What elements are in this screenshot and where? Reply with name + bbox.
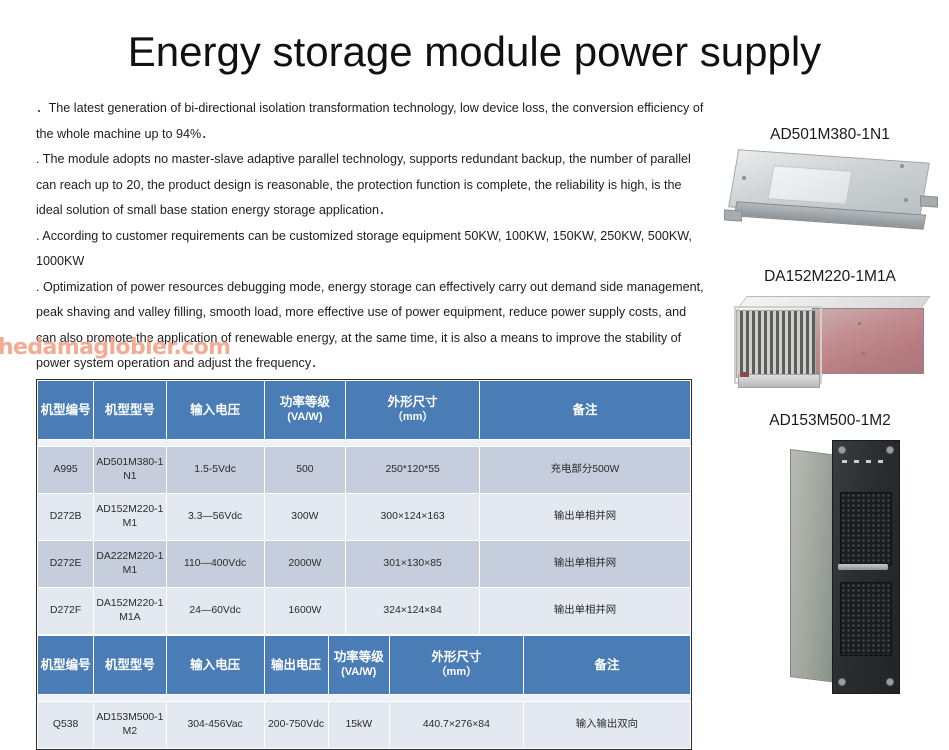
module-screw (858, 322, 861, 325)
cell-model-no: A995 (38, 447, 94, 494)
spec-tables: 机型编号 机型型号 输入电压 功率等级(VA/W) 外形尺寸（mm） 备注 A9… (36, 379, 692, 750)
column-header-remarks: 备注 (480, 381, 691, 440)
column-header-model-no: 机型编号 (38, 381, 94, 440)
page-title: Energy storage module power supply (0, 28, 949, 76)
module-screw (862, 352, 865, 355)
table-header-row: 机型编号 机型型号 输入电压 功率等级(VA/W) 外形尺寸（mm） 备注 (38, 381, 691, 440)
fan-grille-top (840, 492, 892, 566)
module-latch-tab (740, 372, 749, 377)
cell-power-rating: 1600W (264, 588, 346, 635)
chassis-screw (900, 164, 904, 168)
chassis-mount-ear-right (920, 195, 938, 207)
cell-input-voltage: 110—400Vdc (166, 541, 264, 588)
cell-input-voltage: 24—60Vdc (166, 588, 264, 635)
module-bottom-panel (738, 374, 820, 388)
cell-remarks: 输出单相并网 (480, 541, 691, 588)
spec-table-two: 机型编号 机型型号 输入电压 输出电压 功率等级(VA/W) 外形尺寸（mm） … (37, 635, 691, 749)
cell-model-type: DA222M220-1M1 (94, 541, 166, 588)
cell-remarks: 输出单相并网 (480, 588, 691, 635)
body-copy: ．The latest generation of bi-directional… (36, 96, 704, 377)
paragraph-4: . Optimization of power resources debugg… (36, 275, 704, 377)
table-row: D272F DA152M220-1M1A 24—60Vdc 1600W 324×… (38, 588, 691, 635)
table-row: D272E DA222M220-1M1 110—400Vdc 2000W 301… (38, 541, 691, 588)
column-header-dimensions: 外形尺寸（mm） (389, 636, 523, 695)
cell-dimensions: 300×124×163 (346, 494, 480, 541)
chassis-screw (904, 198, 908, 202)
paragraph-1: ．The latest generation of bi-directional… (36, 96, 704, 147)
status-led (842, 460, 847, 463)
module-screw (886, 446, 894, 454)
column-header-remarks: 备注 (523, 636, 690, 695)
cell-input-voltage: 304-456Vac (166, 702, 264, 749)
column-header-output-voltage: 输出电压 (264, 636, 328, 695)
cell-power-rating: 300W (264, 494, 346, 541)
column-header-input-voltage: 输入电压 (166, 636, 264, 695)
cell-input-voltage: 1.5-5Vdc (166, 447, 264, 494)
module-screw (838, 446, 846, 454)
product-image-tall-fan-module (790, 440, 940, 692)
table-row: D272B AD152M220-1M1 3.3—56Vdc 300W 300×1… (38, 494, 691, 541)
cell-model-type: DA152M220-1M1A (94, 588, 166, 635)
cell-model-no: D272E (38, 541, 94, 588)
cell-input-voltage: 3.3—56Vdc (166, 494, 264, 541)
column-header-model-no: 机型编号 (38, 636, 94, 695)
column-header-power-rating: 功率等级(VA/W) (328, 636, 389, 695)
slide-page: Energy storage module power supply ．The … (0, 0, 949, 708)
module-handle (838, 564, 888, 570)
cell-output-voltage: 200-750Vdc (264, 702, 328, 749)
product-image-flat-rack-chassis (724, 152, 936, 238)
column-header-dimensions: 外形尺寸（mm） (346, 381, 480, 440)
chassis-lid-inset (767, 165, 852, 205)
cell-model-no: Q538 (38, 702, 94, 749)
fan-grille-bottom (840, 582, 892, 656)
chassis-screw (742, 176, 746, 180)
cell-power-rating: 2000W (264, 541, 346, 588)
module-screw (886, 678, 894, 686)
cell-remarks: 充电部分500W (480, 447, 691, 494)
table-row: A995 AD501M380-1N1 1.5-5Vdc 500 250*120*… (38, 447, 691, 494)
product-label-3: AD153M500-1M2 (714, 412, 946, 430)
cell-remarks: 输出单相并网 (480, 494, 691, 541)
module-body-side (790, 449, 838, 683)
cell-dimensions: 250*120*55 (346, 447, 480, 494)
cell-model-type: AD501M380-1N1 (94, 447, 166, 494)
cell-dimensions: 301×130×85 (346, 541, 480, 588)
table-header-row: 机型编号 机型型号 输入电压 输出电压 功率等级(VA/W) 外形尺寸（mm） … (38, 636, 691, 695)
product-label-2: DA152M220-1M1A (714, 268, 946, 286)
cell-model-no: D272B (38, 494, 94, 541)
cell-power-rating: 500 (264, 447, 346, 494)
cell-power-rating: 15kW (328, 702, 389, 749)
spec-table-one: 机型编号 机型型号 输入电压 功率等级(VA/W) 外形尺寸（mm） 备注 A9… (37, 380, 691, 635)
column-header-model-type: 机型型号 (94, 636, 166, 695)
column-header-model-type: 机型型号 (94, 381, 166, 440)
product-label-1: AD501M380-1N1 (714, 126, 946, 144)
table-row: Q538 AD153M500-1M2 304-456Vac 200-750Vdc… (38, 702, 691, 749)
status-led (866, 460, 871, 463)
status-led (854, 460, 859, 463)
column-header-input-voltage: 输入电压 (166, 381, 264, 440)
cell-dimensions: 440.7×276×84 (389, 702, 523, 749)
status-led (878, 460, 883, 463)
table-spacer (38, 440, 691, 447)
cell-remarks: 输入输出双向 (523, 702, 690, 749)
paragraph-3: . According to customer requirements can… (36, 224, 704, 275)
cell-dimensions: 324×124×84 (346, 588, 480, 635)
table-spacer (38, 695, 691, 702)
module-side-panel (812, 308, 924, 374)
module-screw (838, 678, 846, 686)
cell-model-type: AD153M500-1M2 (94, 702, 166, 749)
chassis-mount-ear-left (724, 209, 742, 221)
column-header-power-rating: 功率等级(VA/W) (264, 381, 346, 440)
product-image-vented-module (726, 296, 936, 388)
paragraph-2: . The module adopts no master-slave adap… (36, 147, 704, 224)
cell-model-no: D272F (38, 588, 94, 635)
cell-model-type: AD152M220-1M1 (94, 494, 166, 541)
